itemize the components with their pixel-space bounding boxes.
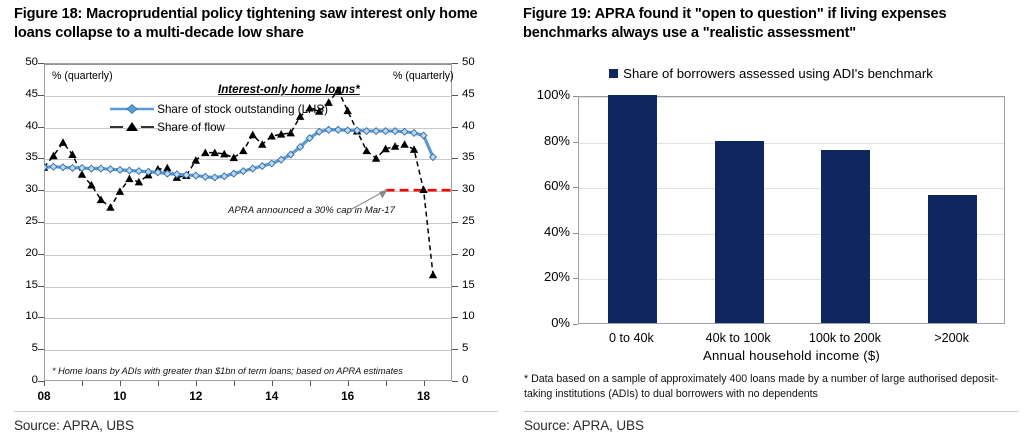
x-axis-tick-label: 12	[179, 389, 213, 403]
y-axis-tick-label-right: 15	[462, 279, 492, 291]
series-stock-marker	[107, 166, 114, 173]
series-stock-marker	[202, 173, 209, 180]
y-axis-tick-label: 80%	[516, 133, 570, 148]
x-axis-category-label: 40k to 100k	[685, 331, 792, 345]
series-stock-marker	[335, 126, 342, 133]
series-stock-marker	[50, 163, 57, 170]
y-axis-tick-label-right: 10	[462, 310, 492, 322]
series-stock-marker	[325, 126, 332, 133]
series-stock-marker	[221, 173, 228, 180]
x-axis-tick	[82, 381, 83, 386]
figure-19-x-axis-title: Annual household income ($)	[578, 348, 1005, 363]
series-flow-marker	[305, 104, 313, 112]
y-axis-tick-label-left: 40	[8, 120, 38, 132]
figure-19-source-divider	[524, 411, 1019, 412]
x-axis-tick-label: 16	[331, 389, 365, 403]
series-flow-marker	[268, 132, 276, 140]
series-flow-marker	[410, 145, 418, 153]
y-axis-tick-label: 60%	[516, 178, 570, 193]
x-axis-tick	[310, 381, 311, 386]
y-axis-tick-label-right: 25	[462, 215, 492, 227]
y-axis-tick-label: 20%	[516, 269, 570, 284]
series-stock-marker	[392, 128, 399, 135]
series-flow-marker	[192, 156, 200, 164]
series-stock-marker	[192, 172, 199, 179]
y-axis-tick-right	[452, 381, 458, 382]
figure-18-series-canvas	[44, 63, 452, 381]
y-axis-tick-label-right: 5	[462, 342, 492, 354]
y-axis-tick-label-left: 10	[8, 310, 38, 322]
figure-18-panel: Figure 18: Macroprudential policy tighte…	[0, 0, 512, 445]
legend-swatch-navy-icon	[609, 69, 618, 78]
y-axis-tick-label-right: 35	[462, 151, 492, 163]
series-flow-marker	[125, 175, 133, 183]
y-axis-tick-label: 0%	[516, 315, 570, 330]
x-axis-category-label: 0 to 40k	[578, 331, 685, 345]
figure-18-title: Figure 18: Macroprudential policy tighte…	[14, 5, 496, 43]
series-flow-marker	[429, 271, 437, 279]
x-axis-tick-label: 18	[407, 389, 441, 403]
x-axis-tick	[272, 381, 273, 386]
series-flow-marker	[343, 107, 351, 115]
y-axis-tick-label-left: 30	[8, 183, 38, 195]
series-stock-marker	[259, 163, 266, 170]
bar	[821, 150, 870, 323]
series-stock-marker	[60, 164, 67, 171]
y-axis-tick-label: 100%	[516, 87, 570, 102]
figure-19-footnote: * Data based on a sample of approximatel…	[524, 372, 1019, 403]
y-axis-tick-right	[452, 349, 458, 350]
x-axis-tick	[120, 381, 121, 386]
series-stock-marker	[117, 166, 124, 173]
series-flow-marker	[249, 131, 257, 139]
series-flow-marker	[400, 140, 408, 148]
series-stock-marker	[135, 168, 142, 175]
series-stock-marker	[363, 128, 370, 135]
x-axis-tick	[424, 381, 425, 386]
y-axis-tick-label-right: 40	[462, 120, 492, 132]
series-stock-marker	[373, 128, 380, 135]
series-flow-marker	[324, 98, 332, 106]
y-axis-tick-label-right: 50	[462, 56, 492, 68]
figure-19-source: Source: APRA, UBS	[524, 418, 644, 433]
series-stock-marker	[69, 165, 76, 172]
y-axis-tick-label-left: 45	[8, 88, 38, 100]
figure-18-source-divider	[14, 411, 498, 412]
x-axis-tick-label: 10	[103, 389, 137, 403]
figure-18-footnote: * Home loans by ADIs with greater than $…	[52, 366, 403, 376]
series-stock-marker	[230, 170, 237, 177]
y-axis-tick-label-left: 20	[8, 247, 38, 259]
figure-19-legend: Share of borrowers assessed using ADI's …	[513, 66, 1029, 81]
y-axis-tick-right	[452, 95, 458, 96]
series-flow-marker	[116, 187, 124, 195]
series-flow-marker	[372, 154, 380, 162]
y-axis-tick-label-left: 35	[8, 151, 38, 163]
series-flow-marker	[68, 150, 76, 158]
series-stock-marker	[411, 130, 418, 137]
y-axis-tick	[573, 324, 578, 325]
series-stock-marker	[211, 174, 218, 181]
y-axis-tick-right	[452, 222, 458, 223]
y-axis-tick-label-left: 25	[8, 215, 38, 227]
y-axis-tick-right	[452, 286, 458, 287]
series-flow-marker	[287, 129, 295, 137]
y-axis-tick-label-right: 30	[462, 183, 492, 195]
x-axis-tick	[348, 381, 349, 386]
series-flow-marker	[97, 196, 105, 204]
series-stock-marker	[98, 165, 105, 172]
y-axis-tick-label: 40%	[516, 224, 570, 239]
y-axis-tick-label-left: 15	[8, 279, 38, 291]
y-axis-tick-right	[452, 158, 458, 159]
series-flow-marker	[59, 138, 67, 146]
y-axis-tick	[573, 233, 578, 234]
bar	[608, 95, 657, 323]
series-stock-marker	[126, 167, 133, 174]
y-axis-tick-right	[452, 127, 458, 128]
y-axis-tick-label-right: 45	[462, 88, 492, 100]
series-share-of-flow-line	[44, 90, 433, 274]
x-axis-category-label: >200k	[898, 331, 1005, 345]
y-axis-tick-right	[452, 317, 458, 318]
series-stock-marker	[382, 128, 389, 135]
bar	[928, 195, 977, 323]
series-stock-marker	[88, 165, 95, 172]
y-axis-tick	[573, 187, 578, 188]
y-axis-tick-label-left: 0	[8, 374, 38, 386]
series-stock-marker	[344, 127, 351, 134]
y-axis-tick	[573, 142, 578, 143]
figure-19-legend-label: Share of borrowers assessed using ADI's …	[623, 66, 933, 81]
figure-18-source: Source: APRA, UBS	[14, 418, 134, 433]
series-flow-marker	[239, 147, 247, 155]
y-axis-tick	[573, 96, 578, 97]
y-axis-tick-right	[452, 190, 458, 191]
series-flow-marker	[258, 140, 266, 148]
figure-19-plot-area	[578, 96, 1005, 324]
y-axis-tick-right	[452, 254, 458, 255]
x-axis-tick	[196, 381, 197, 386]
x-axis-tick	[234, 381, 235, 386]
y-axis-tick-label-left: 5	[8, 342, 38, 354]
x-axis-tick	[386, 381, 387, 386]
x-axis-tick-label: 08	[27, 389, 61, 403]
series-flow-marker	[334, 86, 342, 94]
annotation-arrow-icon	[350, 188, 392, 214]
bar	[715, 141, 764, 323]
x-axis-tick	[158, 381, 159, 386]
figure-19-title: Figure 19: APRA found it "open to questi…	[523, 5, 1023, 43]
x-axis-tick-label: 14	[255, 389, 289, 403]
x-axis-category-label: 100k to 200k	[792, 331, 899, 345]
series-stock-marker	[249, 165, 256, 172]
x-axis-tick	[44, 381, 45, 386]
series-flow-marker	[362, 147, 370, 155]
series-stock-marker	[401, 128, 408, 135]
series-stock-marker	[240, 168, 247, 175]
y-axis-tick-label-right: 20	[462, 247, 492, 259]
series-flow-marker	[296, 112, 304, 120]
y-axis-tick	[573, 278, 578, 279]
y-axis-tick-label-left: 50	[8, 56, 38, 68]
y-axis-tick-right	[452, 63, 458, 64]
series-flow-marker	[106, 203, 114, 211]
series-flow-marker	[201, 148, 209, 156]
y-axis-tick-label-right: 0	[462, 374, 492, 386]
figures-page: Figure 18: Macroprudential policy tighte…	[0, 0, 1029, 445]
